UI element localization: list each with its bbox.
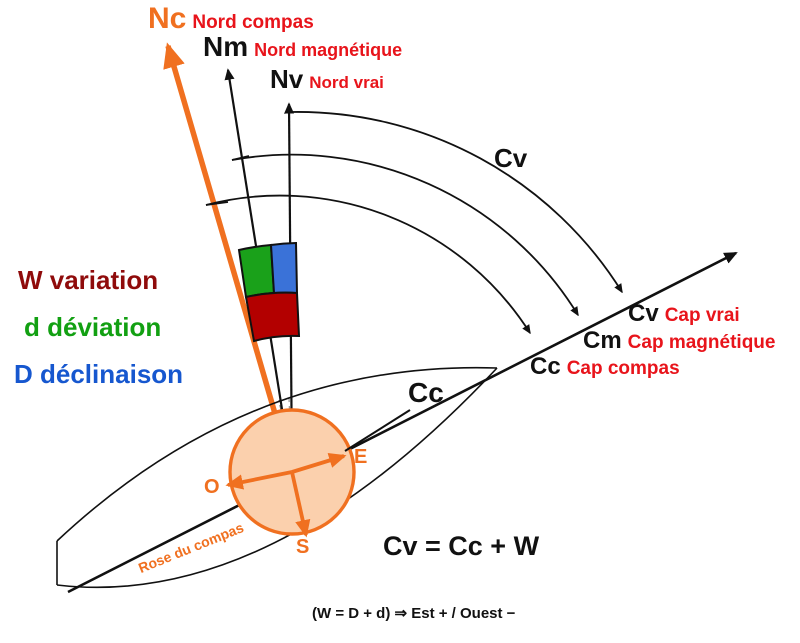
cc-label: Cap compas — [567, 358, 680, 380]
formula-note: (W = D + d) ⇒ Est + / Ouest − — [312, 606, 515, 621]
nv-label: Nord vrai — [309, 73, 384, 93]
nm-label: Nord magnétique — [254, 40, 402, 61]
cv-arc-label: Cv — [494, 145, 527, 171]
cv-label: Cap vrai — [665, 305, 740, 327]
cc-label-leader — [345, 410, 410, 451]
nv-code: Nv — [270, 64, 303, 95]
compass-rose-group — [228, 410, 354, 535]
north-marker-nv: Nv Nord vrai — [270, 64, 384, 95]
nm-code: Nm — [203, 31, 248, 63]
nc-code: Nc — [148, 2, 186, 36]
cc-arc-label: Cc — [408, 379, 444, 407]
diagram-canvas: Nc Nord compas Nm Nord magnétique Nv Nor… — [0, 0, 800, 643]
formula-main: Cv = Cc + W — [383, 533, 539, 560]
cc-code: Cc — [530, 353, 561, 381]
cm-label: Cap magnétique — [628, 332, 776, 354]
heading-cm: Cm Cap magnétique — [583, 327, 775, 355]
deviation-band — [239, 245, 274, 297]
heading-cv: Cv Cap vrai — [628, 300, 740, 328]
cm-code: Cm — [583, 327, 622, 355]
declinaison-band — [271, 243, 297, 293]
rose-cardinal-e: E — [354, 447, 367, 467]
legend-declinaison: D déclinaison — [14, 361, 183, 387]
rose-cardinal-s: S — [296, 537, 309, 557]
heading-cc: Cc Cap compas — [530, 353, 680, 381]
rose-cardinal-o: O — [204, 477, 220, 497]
cv-code: Cv — [628, 300, 659, 328]
legend-deviation: d déviation — [24, 314, 161, 340]
legend-variation: W variation — [18, 267, 158, 293]
north-marker-nm: Nm Nord magnétique — [203, 31, 402, 63]
variation-band — [246, 293, 299, 341]
